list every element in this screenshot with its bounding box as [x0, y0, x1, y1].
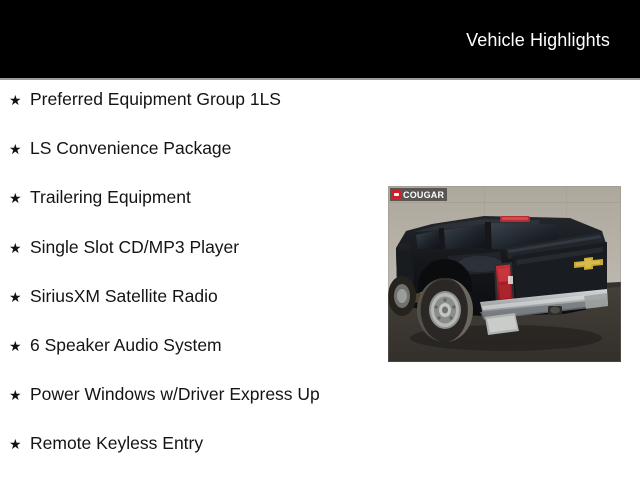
list-item: ★ Single Slot CD/MP3 Player — [0, 236, 380, 285]
star-icon: ★ — [9, 187, 30, 209]
list-item-label: Power Windows w/Driver Express Up — [30, 383, 320, 405]
list-item-label: Trailering Equipment — [30, 186, 191, 208]
star-icon: ★ — [9, 384, 30, 406]
watermark-text: COUGAR — [403, 190, 444, 200]
vehicle-photo-illustration — [388, 186, 621, 362]
list-item-label: 6 Speaker Audio System — [30, 334, 222, 356]
list-item-label: Preferred Equipment Group 1LS — [30, 88, 281, 110]
cougar-logo-icon — [392, 190, 401, 199]
star-icon: ★ — [9, 237, 30, 259]
list-item: ★ LS Convenience Package — [0, 137, 380, 186]
star-icon: ★ — [9, 89, 30, 111]
header-divider — [0, 78, 640, 80]
list-item-label: LS Convenience Package — [30, 137, 231, 159]
star-icon: ★ — [9, 335, 30, 357]
list-item: ★ Power Windows w/Driver Express Up — [0, 383, 380, 432]
star-icon: ★ — [9, 138, 30, 160]
page-title: Vehicle Highlights — [466, 29, 610, 51]
star-icon: ★ — [9, 286, 30, 308]
vehicle-photo: COUGAR — [388, 186, 621, 362]
photo-watermark: COUGAR — [390, 188, 447, 201]
front-wheel — [388, 276, 416, 316]
vehicle-highlights-list: ★ Preferred Equipment Group 1LS ★ LS Con… — [0, 88, 380, 482]
star-icon: ★ — [9, 433, 30, 455]
list-item: ★ Trailering Equipment — [0, 186, 380, 235]
list-item-label: Remote Keyless Entry — [30, 432, 203, 454]
rear-wheel — [417, 278, 473, 342]
list-item: ★ 6 Speaker Audio System — [0, 334, 380, 383]
list-item: ★ SiriusXM Satellite Radio — [0, 285, 380, 334]
header-bar: Vehicle Highlights — [0, 0, 640, 78]
list-item: ★ Remote Keyless Entry — [0, 432, 380, 481]
list-item-label: SiriusXM Satellite Radio — [30, 285, 218, 307]
list-item-label: Single Slot CD/MP3 Player — [30, 236, 239, 258]
list-item: ★ Preferred Equipment Group 1LS — [0, 88, 380, 137]
